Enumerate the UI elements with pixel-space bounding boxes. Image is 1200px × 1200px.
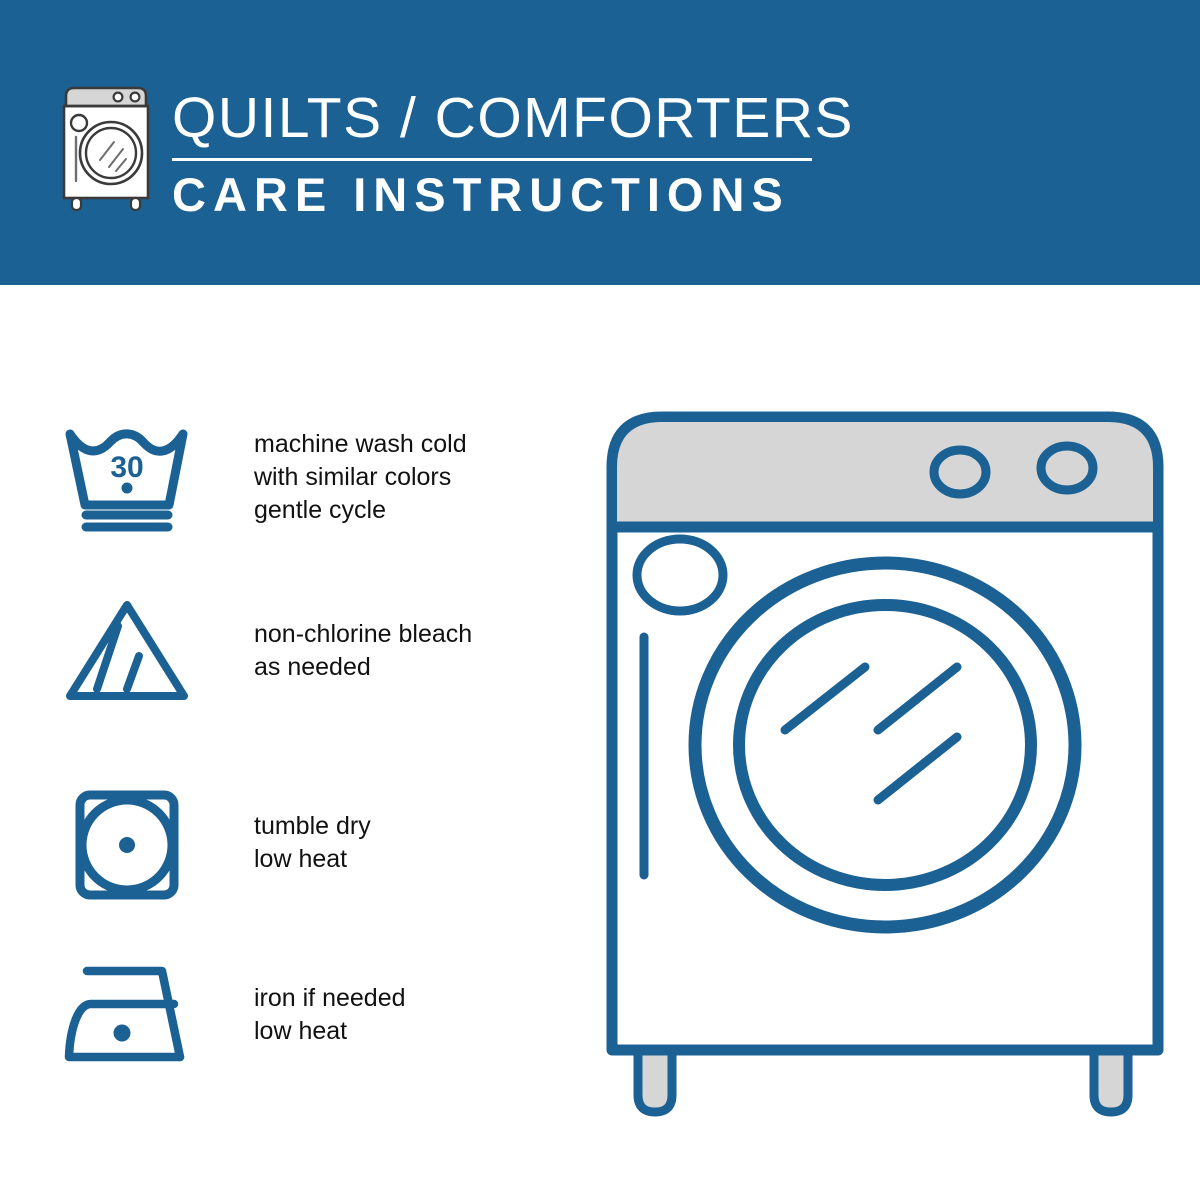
header-titles: QUILTS / COMFORTERS CARE INSTRUCTIONS [172,86,832,223]
iron-low-heat-icon [62,957,192,1077]
care-item-tumble-dry-label: tumble dry low heat [254,810,371,876]
care-instruction-list: 30 machine wash cold with similar colors… [0,285,560,1200]
page-subtitle: CARE INSTRUCTIONS [172,167,832,223]
non-chlorine-bleach-triangle-icon [62,593,192,713]
care-item-bleach-label: non-chlorine bleach as needed [254,618,472,684]
page-title: QUILTS / COMFORTERS [172,86,832,150]
front-load-washing-machine-illustration [600,405,1170,1120]
care-item-wash-label: machine wash cold with similar colors ge… [254,428,467,527]
washing-machine-icon [52,80,160,212]
header-band: QUILTS / COMFORTERS CARE INSTRUCTIONS [0,0,1200,285]
wash-temperature-label: 30 [110,451,143,484]
washer-leg-right [1094,1050,1128,1112]
title-divider [172,158,812,161]
care-item-iron-label: iron if needed low heat [254,982,406,1048]
care-instructions-page: QUILTS / COMFORTERS CARE INSTRUCTIONS 30 [0,0,1200,1200]
machine-wash-tub-icon: 30 [62,415,192,535]
tumble-dry-low-icon [62,785,192,905]
washer-leg-left [638,1050,672,1112]
